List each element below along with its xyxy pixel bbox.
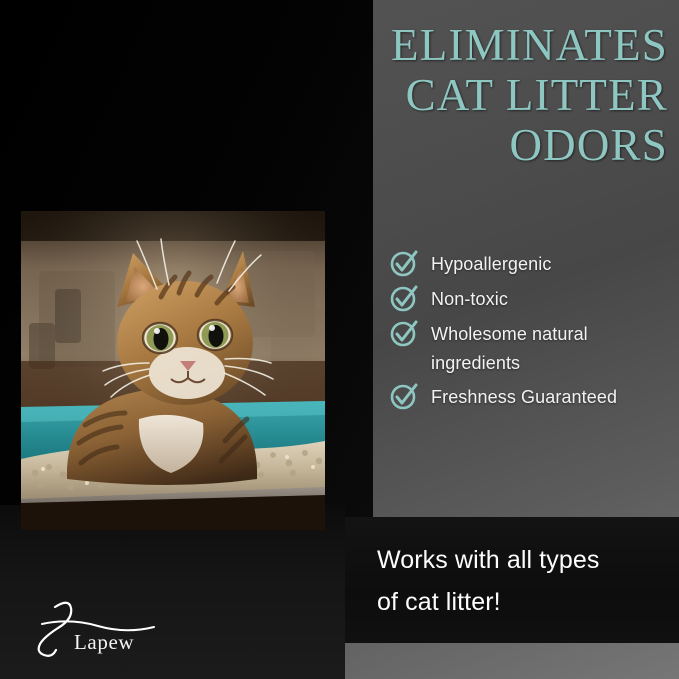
list-item: Wholesome natural ingredients [389, 320, 674, 378]
kitten-in-litter-box-photo [21, 211, 325, 530]
check-circle-icon [389, 283, 419, 313]
product-ad-card: ELIMINATES CAT LITTER ODORS [0, 0, 679, 679]
brand-wordmark: Lapew [74, 630, 134, 655]
check-circle-icon [389, 381, 419, 411]
feature-label: Freshness Guaranteed [431, 383, 617, 412]
feature-label: Hypoallergenic [431, 250, 551, 279]
feature-label: Non-toxic [431, 285, 508, 314]
list-item: Hypoallergenic [389, 250, 674, 280]
headline: ELIMINATES CAT LITTER ODORS [258, 20, 668, 170]
feature-list: Hypoallergenic Non-toxic Wholesome natur… [389, 250, 674, 418]
callout-box: Works with all types of cat litter! [345, 517, 679, 643]
callout-line-2: of cat litter! [377, 581, 679, 623]
headline-line-2: CAT LITTER [258, 70, 668, 120]
list-item: Freshness Guaranteed [389, 383, 674, 413]
feature-label-line-1: Wholesome natural [431, 324, 588, 344]
headline-line-3: ODORS [258, 120, 668, 170]
check-circle-icon [389, 248, 419, 278]
list-item: Non-toxic [389, 285, 674, 315]
feature-label: Wholesome natural ingredients [431, 320, 588, 378]
feature-label-line-2: ingredients [431, 353, 520, 373]
check-circle-icon [389, 318, 419, 348]
callout-line-1: Works with all types [377, 539, 679, 581]
headline-line-1: ELIMINATES [258, 20, 668, 70]
brand-logo: Lapew [22, 600, 172, 662]
